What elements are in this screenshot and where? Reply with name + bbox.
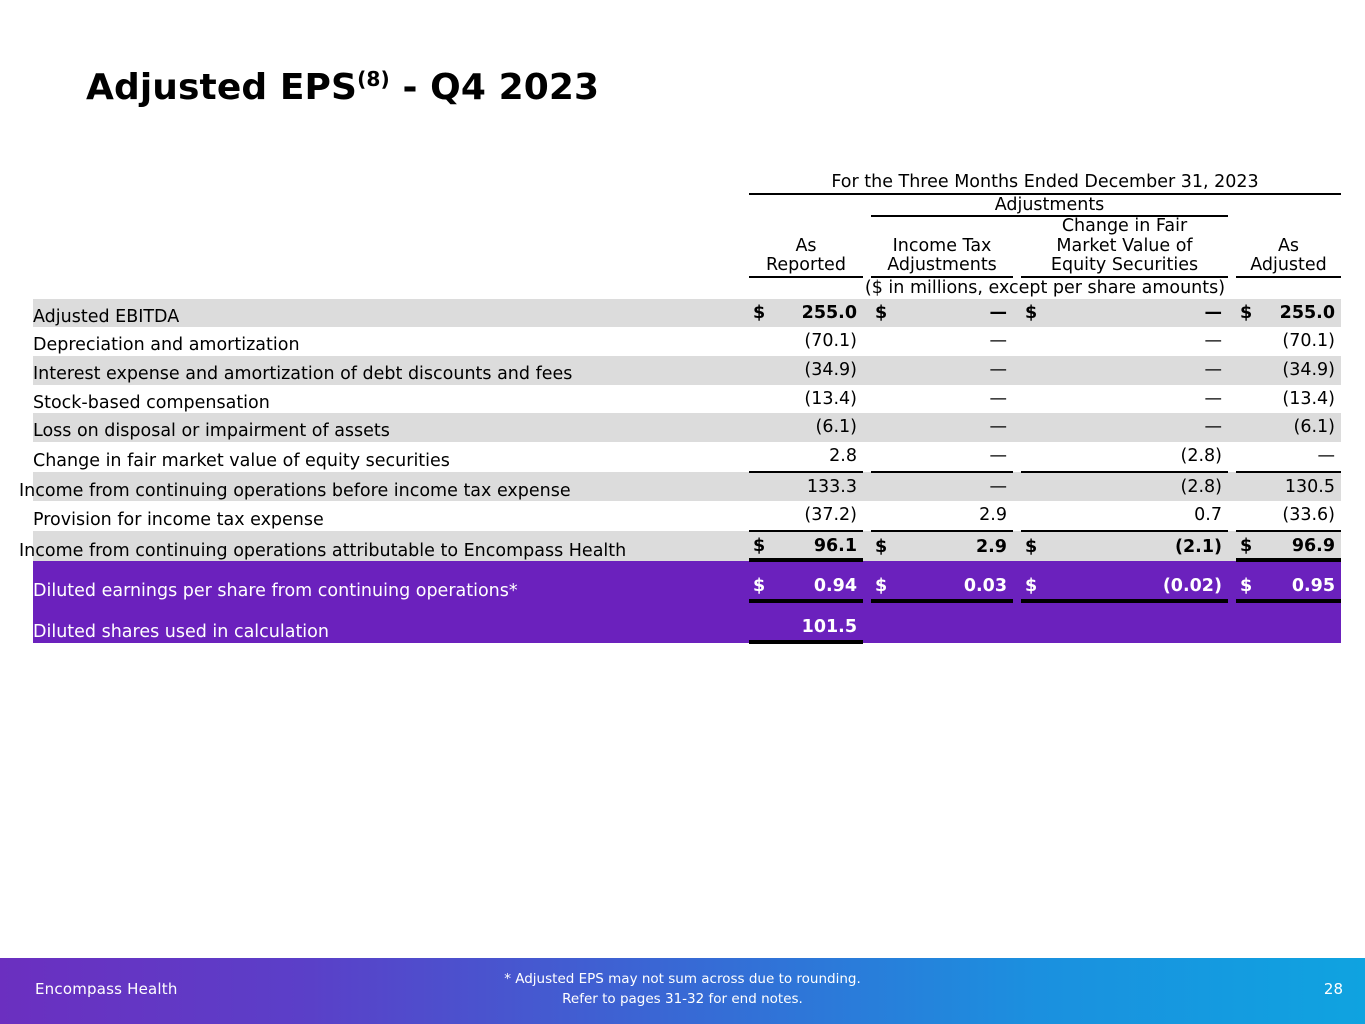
cell-gap (1228, 356, 1236, 385)
units-note: ($ in millions, except per share amounts… (749, 277, 1341, 299)
row-label: Stock-based compensation (33, 385, 749, 414)
page-title-tail: - Q4 2023 (390, 67, 599, 108)
column-header-line: Adjustments (887, 255, 997, 275)
table-row: Adjusted EBITDA $255.0 $— $— $255.0 (33, 299, 1341, 328)
cell-income-tax: $2.9 (871, 531, 1013, 562)
header-spacer (1236, 194, 1341, 217)
page-title: Adjusted EPS(8) - Q4 2023 (86, 68, 599, 108)
cell-gap (1228, 572, 1236, 602)
table-row-highlight: Diluted earnings per share from continui… (33, 572, 1341, 602)
spacer (33, 602, 749, 613)
column-header-line: Adjusted (1250, 255, 1327, 275)
currency-symbol: $ (1240, 303, 1252, 324)
cell-income-tax: — (871, 472, 1013, 502)
cell-gap (1013, 385, 1021, 414)
column-header-change-fair-market-value: Change in Fair Market Value of Equity Se… (1021, 216, 1228, 277)
units-note-row: ($ in millions, except per share amounts… (33, 277, 1341, 299)
column-header-line: As (795, 236, 816, 256)
cell-value: (34.9) (1282, 360, 1335, 381)
cell-as-reported: (70.1) (749, 327, 863, 356)
spacer (863, 602, 871, 613)
cell-income-tax: $— (871, 299, 1013, 328)
cell-value: 0.95 (1292, 576, 1335, 597)
spacer (749, 561, 863, 572)
spacer (33, 561, 749, 572)
cell-income-tax: — (871, 327, 1013, 356)
cell-as-adjusted (1236, 613, 1341, 643)
cell-value: — (990, 446, 1008, 467)
cell-gap (1013, 531, 1021, 562)
cell-change-fmv: — (1021, 327, 1228, 356)
cell-gap (863, 299, 871, 328)
currency-symbol: $ (753, 536, 765, 557)
cell-as-reported: 133.3 (749, 472, 863, 502)
spacer (1228, 561, 1236, 572)
cell-value: (34.9) (804, 360, 857, 381)
cell-value: (6.1) (1294, 417, 1336, 438)
cell-change-fmv (1021, 613, 1228, 643)
cell-gap (1013, 413, 1021, 442)
cell-as-adjusted: (70.1) (1236, 327, 1341, 356)
row-label: Income from continuing operations before… (33, 472, 749, 502)
cell-value: 96.9 (1292, 536, 1335, 557)
cell-value: 0.94 (814, 576, 857, 597)
cell-value: — (1318, 446, 1336, 467)
currency-symbol: $ (1025, 303, 1037, 324)
header-spacer (749, 194, 863, 217)
cell-value: (70.1) (1282, 331, 1335, 352)
spacer (749, 602, 863, 613)
cell-gap (863, 356, 871, 385)
footnote-line-2: Refer to pages 31-32 for end notes. (0, 990, 1365, 1010)
table-row-highlight: Diluted shares used in calculation 101.5 (33, 613, 1341, 643)
cell-value: (33.6) (1282, 505, 1335, 526)
cell-as-reported: (34.9) (749, 356, 863, 385)
cell-value: 255.0 (1280, 303, 1335, 324)
cell-gap (863, 413, 871, 442)
spacer (1013, 602, 1021, 613)
cell-income-tax: — (871, 413, 1013, 442)
cell-value: — (990, 477, 1008, 498)
cell-gap (1228, 472, 1236, 502)
column-header-line: Reported (766, 255, 846, 275)
row-label: Change in fair market value of equity se… (33, 442, 749, 472)
spacer (1021, 561, 1228, 572)
spacer (1236, 602, 1341, 613)
cell-change-fmv: (2.8) (1021, 472, 1228, 502)
cell-as-reported: $96.1 (749, 531, 863, 562)
cell-value: (2.8) (1181, 477, 1223, 498)
cell-gap (1228, 442, 1236, 472)
header-spacer (863, 194, 871, 217)
column-header-line: Income Tax (893, 236, 992, 256)
header-spacer (863, 216, 871, 277)
cell-as-reported: (6.1) (749, 413, 863, 442)
cell-value: (37.2) (804, 505, 857, 526)
currency-symbol: $ (875, 537, 887, 558)
currency-symbol: $ (1025, 576, 1037, 597)
cell-change-fmv: (2.8) (1021, 442, 1228, 472)
cell-value: — (990, 417, 1008, 438)
cell-gap (1013, 356, 1021, 385)
column-header-as-reported: As Reported (749, 216, 863, 277)
cell-value: (6.1) (816, 417, 858, 438)
cell-value: (13.4) (804, 389, 857, 410)
spacer (871, 561, 1013, 572)
spacer (863, 561, 871, 572)
cell-gap (1228, 501, 1236, 531)
cell-change-fmv: — (1021, 385, 1228, 414)
cell-value: (13.4) (1282, 389, 1335, 410)
row-label: Diluted shares used in calculation (33, 613, 749, 643)
currency-symbol: $ (875, 576, 887, 597)
cell-gap (1013, 472, 1021, 502)
page-number: 28 (1324, 980, 1343, 998)
adjustments-header: Adjustments (871, 194, 1228, 217)
accent-spacer-row (33, 602, 1341, 613)
cell-gap (1013, 572, 1021, 602)
spacer (1236, 561, 1341, 572)
cell-change-fmv: — (1021, 413, 1228, 442)
cell-as-reported: (13.4) (749, 385, 863, 414)
cell-value: 255.0 (802, 303, 857, 324)
spacer (1013, 561, 1021, 572)
cell-change-fmv: $— (1021, 299, 1228, 328)
cell-value: 101.5 (802, 617, 857, 638)
table-row: Depreciation and amortization (70.1) — —… (33, 327, 1341, 356)
cell-as-adjusted: (6.1) (1236, 413, 1341, 442)
period-header-row: For the Three Months Ended December 31, … (33, 172, 1341, 194)
footnote-line-1: * Adjusted EPS may not sum across due to… (0, 970, 1365, 990)
cell-gap (1228, 613, 1236, 643)
cell-income-tax: $0.03 (871, 572, 1013, 602)
column-header-line: Equity Securities (1051, 255, 1198, 275)
cell-income-tax (871, 613, 1013, 643)
cell-value: (2.1) (1175, 537, 1222, 558)
currency-symbol: $ (753, 576, 765, 597)
cell-value: — (1205, 331, 1223, 352)
cell-gap (863, 613, 871, 643)
cell-value: — (1205, 417, 1223, 438)
cell-gap (1013, 501, 1021, 531)
cell-gap (863, 472, 871, 502)
cell-as-adjusted: 130.5 (1236, 472, 1341, 502)
currency-symbol: $ (875, 303, 887, 324)
cell-value: (0.02) (1163, 576, 1222, 597)
currency-symbol: $ (1025, 537, 1037, 558)
period-header: For the Three Months Ended December 31, … (749, 172, 1341, 194)
currency-symbol: $ (753, 303, 765, 324)
header-spacer (33, 172, 749, 194)
cell-change-fmv: $(0.02) (1021, 572, 1228, 602)
row-label: Loss on disposal or impairment of assets (33, 413, 749, 442)
page-title-main: Adjusted EPS (86, 67, 357, 108)
cell-gap (1228, 385, 1236, 414)
table-row: Income from continuing operations attrib… (33, 531, 1341, 562)
page-title-footnote-marker: (8) (357, 67, 390, 91)
cell-gap (863, 572, 871, 602)
cell-value: — (1205, 360, 1223, 381)
cell-gap (863, 442, 871, 472)
cell-as-reported: (37.2) (749, 501, 863, 531)
column-header-row: As Reported Income Tax Adjustments Chang… (33, 216, 1341, 277)
cell-value: (70.1) (804, 331, 857, 352)
header-spacer (1013, 216, 1021, 277)
cell-change-fmv: $(2.1) (1021, 531, 1228, 562)
cell-gap (863, 385, 871, 414)
header-spacer (1228, 194, 1236, 217)
accent-spacer-row (33, 561, 1341, 572)
cell-value: 2.9 (979, 505, 1007, 526)
cell-value: 0.03 (964, 576, 1007, 597)
cell-as-adjusted: (33.6) (1236, 501, 1341, 531)
cell-value: — (990, 389, 1008, 410)
header-spacer (33, 194, 749, 217)
currency-symbol: $ (1240, 576, 1252, 597)
table-row: Change in fair market value of equity se… (33, 442, 1341, 472)
row-label: Income from continuing operations attrib… (33, 531, 749, 562)
footnote: * Adjusted EPS may not sum across due to… (0, 970, 1365, 1009)
cell-as-adjusted: $0.95 (1236, 572, 1341, 602)
cell-income-tax: — (871, 442, 1013, 472)
cell-gap (1013, 327, 1021, 356)
cell-value: — (1205, 389, 1223, 410)
currency-symbol: $ (1240, 536, 1252, 557)
cell-gap (1228, 413, 1236, 442)
spacer (871, 602, 1013, 613)
cell-value: 133.3 (807, 477, 857, 498)
row-label: Depreciation and amortization (33, 327, 749, 356)
cell-value: — (990, 331, 1008, 352)
cell-gap (1013, 299, 1021, 328)
footer-bar: Encompass Health * Adjusted EPS may not … (0, 958, 1365, 1024)
column-header-line: Change in Fair (1062, 216, 1187, 236)
spacer (1021, 602, 1228, 613)
column-header-as-adjusted: As Adjusted (1236, 216, 1341, 277)
cell-as-reported: $255.0 (749, 299, 863, 328)
cell-value: 130.5 (1285, 477, 1335, 498)
table-row: Interest expense and amortization of deb… (33, 356, 1341, 385)
cell-value: (2.8) (1181, 446, 1223, 467)
column-header-line: Market Value of (1056, 236, 1192, 256)
table-header: For the Three Months Ended December 31, … (33, 172, 1341, 299)
cell-income-tax: 2.9 (871, 501, 1013, 531)
column-header-income-tax-adjustments: Income Tax Adjustments (871, 216, 1013, 277)
table-row: Income from continuing operations before… (33, 472, 1341, 502)
cell-value: — (1205, 303, 1223, 324)
cell-value: 2.9 (976, 537, 1007, 558)
cell-income-tax: — (871, 356, 1013, 385)
table-row: Loss on disposal or impairment of assets… (33, 413, 1341, 442)
cell-as-adjusted: (34.9) (1236, 356, 1341, 385)
cell-as-adjusted: — (1236, 442, 1341, 472)
cell-change-fmv: 0.7 (1021, 501, 1228, 531)
adjusted-eps-table: For the Three Months Ended December 31, … (33, 172, 1341, 644)
row-label: Diluted earnings per share from continui… (33, 572, 749, 602)
cell-value: — (990, 303, 1008, 324)
cell-as-adjusted: $255.0 (1236, 299, 1341, 328)
row-label: Interest expense and amortization of deb… (33, 356, 749, 385)
column-header-line: As (1278, 236, 1299, 256)
cell-gap (1228, 299, 1236, 328)
cell-value: 0.7 (1194, 505, 1222, 526)
cell-as-reported: 101.5 (749, 613, 863, 643)
cell-change-fmv: — (1021, 356, 1228, 385)
cell-value: 96.1 (814, 536, 857, 557)
cell-gap (1013, 442, 1021, 472)
cell-value: — (990, 360, 1008, 381)
header-spacer (33, 216, 749, 277)
cell-as-reported: 2.8 (749, 442, 863, 472)
cell-as-reported: $0.94 (749, 572, 863, 602)
cell-gap (1228, 327, 1236, 356)
row-label: Adjusted EBITDA (33, 299, 749, 328)
cell-gap (1013, 613, 1021, 643)
row-label: Provision for income tax expense (33, 501, 749, 531)
header-spacer (33, 277, 749, 299)
cell-value: 2.8 (829, 446, 857, 467)
table-row: Provision for income tax expense (37.2) … (33, 501, 1341, 531)
adjustments-header-row: Adjustments (33, 194, 1341, 217)
cell-gap (863, 531, 871, 562)
cell-as-adjusted: $96.9 (1236, 531, 1341, 562)
table-row: Stock-based compensation (13.4) — — (13.… (33, 385, 1341, 414)
cell-gap (863, 501, 871, 531)
spacer (1228, 602, 1236, 613)
header-spacer (1228, 216, 1236, 277)
cell-as-adjusted: (13.4) (1236, 385, 1341, 414)
cell-gap (1228, 531, 1236, 562)
cell-income-tax: — (871, 385, 1013, 414)
table-body: Adjusted EBITDA $255.0 $— $— $255.0 Depr… (33, 299, 1341, 643)
cell-gap (863, 327, 871, 356)
